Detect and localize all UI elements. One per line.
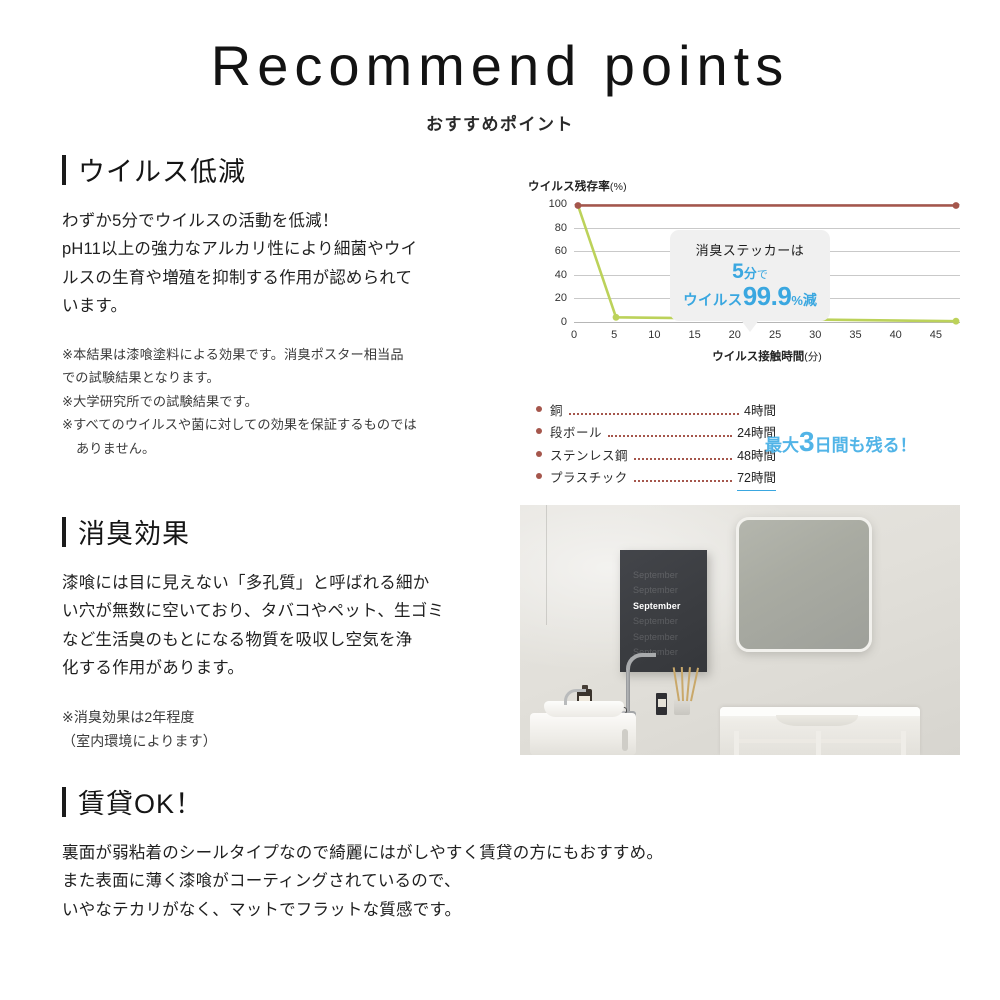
callout-reduction-tail: 減 bbox=[803, 292, 817, 308]
cabinet-leg bbox=[816, 731, 821, 755]
section-notes-virus-reduction: ※本結果は漆喰塗料による効果です。消臭ポスター相当品 での試験結果となります。 … bbox=[62, 343, 522, 461]
heading-accent-bar bbox=[62, 787, 66, 817]
section-body-rental-ok: 裏面が弱粘着のシールタイプなので綺麗にはがしやすく賃貸の方にもおすすめ。 また表… bbox=[62, 839, 942, 924]
x-tick-label: 30 bbox=[809, 329, 821, 341]
x-tick-label: 35 bbox=[849, 329, 861, 341]
y-tick-label: 0 bbox=[561, 316, 567, 328]
series-point-sticker-5min bbox=[613, 314, 620, 321]
toilet-faucet-icon bbox=[564, 689, 586, 705]
chart-legend: 銅 4時間 段ボール 24時間 ステンレス鋼 48時間 プラスチック 72時間 bbox=[536, 400, 776, 491]
body-line: ルスの生育や増殖を抑制する作用が認められて bbox=[62, 264, 522, 292]
cabinet-leg bbox=[901, 731, 906, 755]
legend-leader-dots bbox=[634, 480, 732, 482]
x-tick-label: 20 bbox=[729, 329, 741, 341]
callout-reduction-value: 99.9 bbox=[743, 281, 792, 311]
body-line: います。 bbox=[62, 292, 522, 320]
y-tick-label: 80 bbox=[555, 222, 567, 234]
poster-text-line: September bbox=[633, 630, 707, 645]
vanity-counter bbox=[720, 707, 920, 755]
y-tick-label: 20 bbox=[555, 292, 567, 304]
heading-accent-bar bbox=[62, 155, 66, 185]
max-days-prefix: 最大 bbox=[765, 436, 799, 455]
y-tick-label: 60 bbox=[555, 245, 567, 257]
x-tick-label: 5 bbox=[611, 329, 617, 341]
max-days-suffix: 日間も残る！ bbox=[815, 436, 917, 455]
section-heading-rental-ok: 賃貸OK！ bbox=[62, 782, 942, 821]
body-line: 裏面が弱粘着のシールタイプなので綺麗にはがしやすく賃貸の方にもおすすめ。 bbox=[62, 839, 942, 867]
poster-text-line-highlighted: September bbox=[633, 599, 707, 614]
legend-item: 銅 4時間 bbox=[536, 400, 776, 422]
bathroom-interior-photo: September September September September … bbox=[520, 505, 960, 755]
x-tick-label: 10 bbox=[648, 329, 660, 341]
section-body-virus-reduction: わずか5分でウイルスの活動を低減！ pH11以上の強力なアルカリ性により細菌やウ… bbox=[62, 207, 522, 321]
toilet-with-basin bbox=[530, 693, 636, 755]
body-line: また表面に薄く漆喰がコーティングされているので、 bbox=[62, 867, 942, 895]
x-tick-label: 25 bbox=[769, 329, 781, 341]
legend-leader-dots bbox=[634, 458, 732, 460]
chart-callout-bubble: 消臭ステッカーは 5分で ウイルス99.9%減 bbox=[670, 230, 830, 321]
legend-duration-value-highlighted: 72時間 bbox=[737, 467, 776, 491]
legend-bullet-icon bbox=[536, 473, 542, 479]
callout-line-2: 5分で bbox=[680, 261, 820, 282]
body-line: 漆喰には目に見えない「多孔質」と呼ばれる細か bbox=[62, 569, 522, 597]
chart-y-axis-title: ウイルス残存率 bbox=[528, 181, 610, 193]
note-line: ※すべてのウイルスや菌に対しての効果を保証するものでは bbox=[62, 413, 522, 437]
heading-label: 賃貸OK！ bbox=[78, 782, 203, 821]
x-tick-label: 45 bbox=[930, 329, 942, 341]
legend-highlight-max-days: 最大3日間も残る！ bbox=[765, 428, 917, 456]
toilet-flush-handle bbox=[622, 729, 628, 751]
callout-percent-sign: % bbox=[791, 293, 803, 308]
chart-x-axis-label: ウイルス接触時間(分) bbox=[574, 348, 960, 364]
toilet-tank bbox=[530, 713, 636, 755]
body-line: pH11以上の強力なアルカリ性により細菌やウイ bbox=[62, 235, 522, 263]
chart-x-axis-unit: (分) bbox=[804, 351, 822, 363]
note-line: ※消臭効果は2年程度 bbox=[62, 705, 522, 730]
max-days-number: 3 bbox=[799, 426, 815, 457]
legend-bullet-icon bbox=[536, 406, 542, 412]
chart-plot-area: 100 80 60 40 20 0 0 5 10 15 20 25 30 35 … bbox=[574, 204, 960, 322]
series-point-plastic-start bbox=[575, 202, 582, 209]
callout-minutes-value: 5 bbox=[732, 260, 744, 283]
body-line: いやなテカリがなく、マットでフラットな質感です。 bbox=[62, 896, 942, 924]
poster-text-line: September bbox=[633, 614, 707, 629]
series-point-plastic-end bbox=[953, 202, 960, 209]
chart-y-axis-label: ウイルス残存率(%) bbox=[528, 178, 960, 194]
section-notes-deodorizing-effect: ※消臭効果は2年程度 （室内環境によります） bbox=[62, 705, 522, 755]
heading-label: 消臭効果 bbox=[78, 512, 190, 551]
section-heading-virus-reduction: ウイルス低減 bbox=[62, 150, 522, 189]
section-virus-reduction: ウイルス低減 わずか5分でウイルスの活動を低減！ pH11以上の強力なアルカリ性… bbox=[62, 150, 522, 460]
perfume-bottle bbox=[656, 693, 667, 715]
section-body-deodorizing-effect: 漆喰には目に見えない「多孔質」と呼ばれる細か い穴が無数に空いており、タバコやペ… bbox=[62, 569, 522, 683]
legend-material-label: 段ボール bbox=[550, 422, 602, 444]
section-rental-ok: 賃貸OK！ 裏面が弱粘着のシールタイプなので綺麗にはがしやすく賃貸の方にもおすす… bbox=[62, 782, 942, 924]
legend-item: プラスチック 72時間 bbox=[536, 467, 776, 491]
legend-material-label: 銅 bbox=[550, 400, 563, 422]
y-tick-label: 100 bbox=[549, 198, 567, 210]
callout-minutes-unit: 分 bbox=[744, 266, 757, 281]
virus-survival-chart: ウイルス残存率(%) 100 80 60 40 20 0 0 5 10 15 2… bbox=[528, 178, 960, 383]
legend-leader-dots bbox=[608, 435, 732, 437]
legend-material-label: プラスチック bbox=[550, 467, 628, 489]
x-tick-label: 40 bbox=[890, 329, 902, 341]
page-header: Recommend points おすすめポイント bbox=[0, 0, 1000, 135]
cabinet-leg bbox=[734, 731, 739, 755]
photo-content: September September September September … bbox=[520, 505, 960, 755]
page-subtitle: おすすめポイント bbox=[0, 110, 1000, 135]
callout-minutes-tail: で bbox=[757, 269, 768, 281]
note-line: ※本結果は漆喰塗料による効果です。消臭ポスター相当品 bbox=[62, 343, 522, 367]
section-deodorizing-effect: 消臭効果 漆喰には目に見えない「多孔質」と呼ばれる細か い穴が無数に空いており、… bbox=[62, 512, 522, 754]
wall-seam bbox=[546, 505, 547, 625]
body-line: など生活臭のもとになる物質を吸収し空気を浄 bbox=[62, 626, 522, 654]
section-heading-deodorizing-effect: 消臭効果 bbox=[62, 512, 522, 551]
body-line: わずか5分でウイルスの活動を低減！ bbox=[62, 207, 522, 235]
sink-basin bbox=[776, 715, 858, 726]
x-tick-label: 0 bbox=[571, 329, 577, 341]
page-title: Recommend points bbox=[0, 34, 1000, 98]
note-line: での試験結果となります。 bbox=[62, 366, 522, 390]
note-line: （室内環境によります） bbox=[62, 729, 522, 754]
note-line: ※大学研究所での試験結果です。 bbox=[62, 390, 522, 414]
chart-y-axis-unit: (%) bbox=[610, 181, 627, 193]
reed-diffuser-jar bbox=[674, 699, 690, 715]
legend-leader-dots bbox=[569, 413, 739, 415]
y-tick-label: 40 bbox=[555, 269, 567, 281]
legend-material-label: ステンレス鋼 bbox=[550, 445, 628, 467]
september-poster: September September September September … bbox=[620, 550, 707, 672]
heading-label: ウイルス低減 bbox=[78, 150, 246, 189]
body-line: 化する作用があります。 bbox=[62, 654, 522, 682]
note-line: ありません。 bbox=[62, 437, 522, 461]
callout-line-3: ウイルス99.9%減 bbox=[680, 283, 820, 310]
legend-item: 段ボール 24時間 bbox=[536, 422, 776, 444]
legend-item: ステンレス鋼 48時間 bbox=[536, 445, 776, 467]
wall-mirror bbox=[736, 517, 872, 652]
callout-line-1: 消臭ステッカーは bbox=[680, 240, 820, 259]
series-point-sticker-end bbox=[953, 318, 960, 325]
legend-duration-value: 4時間 bbox=[744, 400, 776, 422]
callout-virus-label: ウイルス bbox=[683, 293, 743, 309]
faucet-spout-icon bbox=[626, 653, 656, 675]
legend-bullet-icon bbox=[536, 428, 542, 434]
body-line: い穴が無数に空いており、タバコやペット、生ゴミ bbox=[62, 597, 522, 625]
gridline-0 bbox=[574, 322, 960, 323]
poster-text-line: September bbox=[633, 583, 707, 598]
x-tick-label: 15 bbox=[688, 329, 700, 341]
heading-accent-bar bbox=[62, 517, 66, 547]
legend-bullet-icon bbox=[536, 451, 542, 457]
chart-x-axis-title: ウイルス接触時間 bbox=[712, 351, 804, 363]
poster-text-line: September bbox=[633, 568, 707, 583]
